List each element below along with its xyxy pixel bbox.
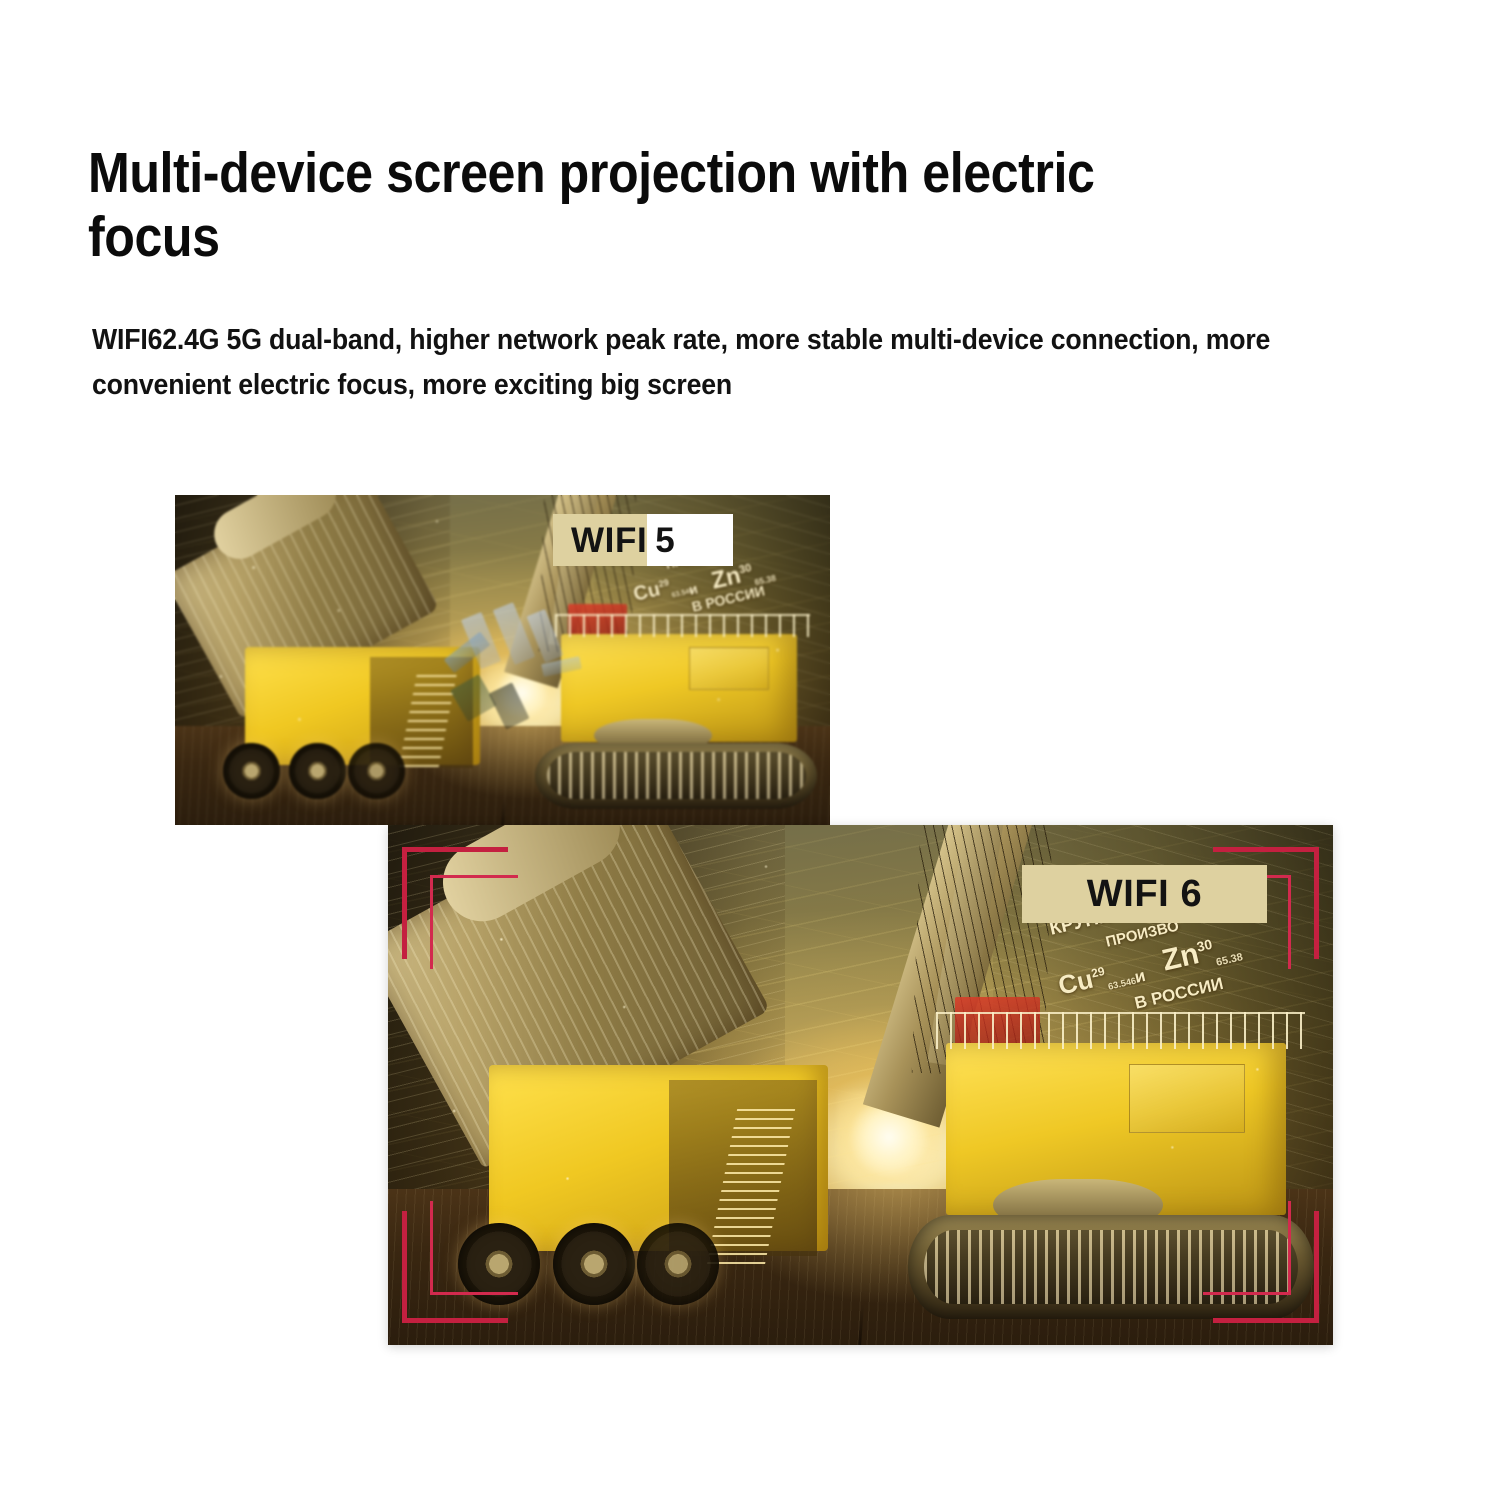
promo-page: Multi-device screen projection with elec… xyxy=(0,0,1500,1500)
page-title: Multi-device screen projection with elec… xyxy=(88,142,1179,270)
status-badge-wifi5: WIFI 5 xyxy=(553,514,803,566)
page-subtitle: WIFI62.4G 5G dual-band, higher network p… xyxy=(92,318,1316,408)
comparison-image-wifi5: КРУПН ПРОИЗВО Cu2963.546 и Zn3065.38 В Р… xyxy=(175,495,830,825)
badge-wifi5-secondary: 5 xyxy=(647,514,733,566)
badge-wifi5-primary: WIFI xyxy=(553,514,647,566)
comparison-image-wifi6: КРУПН ПРОИЗВО Cu2963.546 и Zn3065.38 В Р… xyxy=(388,825,1333,1345)
status-badge-wifi6: WIFI 6 xyxy=(1022,865,1267,923)
